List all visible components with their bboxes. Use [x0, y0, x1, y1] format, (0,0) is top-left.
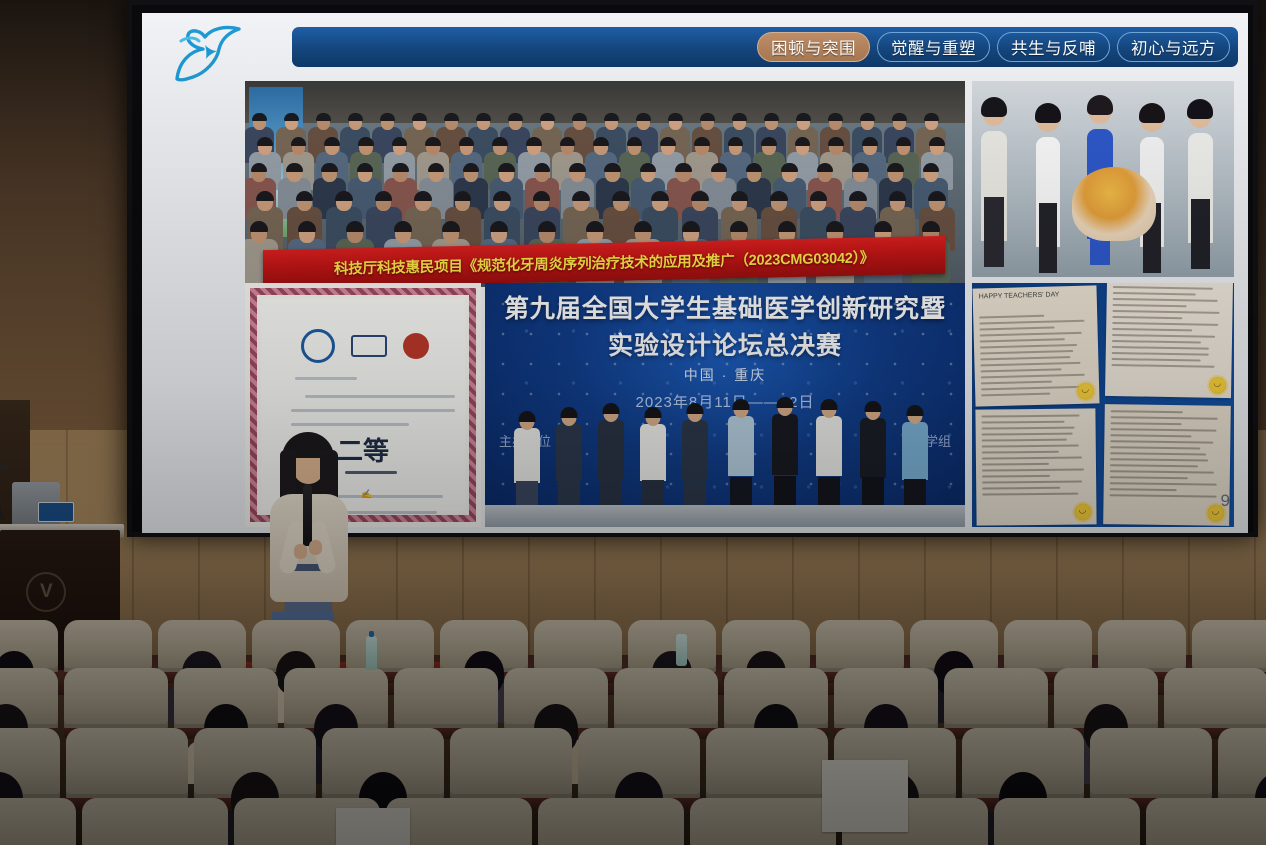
lectern-emblem-icon: [26, 572, 66, 612]
certificate-signature: ✍: [361, 489, 372, 500]
slide-number: 9: [1221, 491, 1230, 511]
book-logo-icon: [351, 335, 387, 357]
society-logo-icon: [301, 329, 335, 363]
auditorium-seat: [994, 798, 1140, 845]
emblem-logo-icon: [403, 333, 429, 359]
auditorium-seat: [1090, 728, 1212, 800]
competition-team-members: [485, 379, 965, 527]
handout-paper: [822, 760, 908, 832]
handheld-microphone: [303, 484, 312, 546]
podium-display-box: [38, 502, 74, 522]
auditorium-seat: [614, 668, 718, 730]
auditorium-seat: [690, 798, 836, 845]
tab-gongsheng-yu-fanbu[interactable]: 共生与反哺: [997, 32, 1110, 62]
conference-title-line1: 第九届全国大学生基础医学创新研究暨: [485, 289, 965, 325]
slide-nav-bar: 困顿与突围 觉醒与重塑 共生与反哺 初心与远方: [292, 27, 1238, 67]
water-bottle: [366, 636, 377, 670]
tab-juexing-yu-chongsu[interactable]: 觉醒与重塑: [877, 32, 990, 62]
auditorium-seat: [1192, 620, 1266, 674]
auditorium-seat: [534, 620, 622, 674]
auditorium-seat: [1004, 620, 1092, 674]
auditorium-seat: [706, 728, 828, 800]
auditorium-seat: [944, 668, 1048, 730]
letter-card: HAPPY TEACHERS' DAY: [972, 285, 1099, 406]
auditorium-seat: [1164, 668, 1266, 730]
students-with-flowers-photo: [972, 81, 1234, 277]
auditorium-seat: [66, 728, 188, 800]
letter-card: [1105, 283, 1233, 398]
auditorium-seat: [816, 620, 904, 674]
auditorium-seat: [1146, 798, 1266, 845]
conference-title-line2: 实验设计论坛总决赛: [485, 326, 965, 362]
letter-card: [1103, 404, 1231, 526]
auditorium-seat: [346, 620, 434, 674]
left-wall: [0, 0, 132, 450]
auditorium-seat: [450, 728, 572, 800]
auditorium-seat: [82, 798, 228, 845]
water-bottle-2: [676, 634, 687, 666]
auditorium-seat: [64, 620, 152, 674]
auditorium-seat: [394, 668, 498, 730]
seated-audience: [0, 612, 1266, 845]
handout-paper: [336, 808, 410, 845]
auditorium-seat: [0, 798, 76, 845]
auditorium-seat: [1098, 620, 1186, 674]
tab-kundun-yu-tuwei[interactable]: 困顿与突围: [757, 32, 870, 62]
project-team-group-photo: 科技厅科技惠民项目《规范化牙周炎序列治疗技术的应用及推广（2023CMG0304…: [245, 81, 965, 287]
auditorium-seat: [538, 798, 684, 845]
slide-header: 困顿与突围 觉醒与重塑 共生与反哺 初心与远方: [142, 13, 1248, 75]
letter-card: [975, 408, 1096, 525]
tab-chuxin-yu-yuanfang[interactable]: 初心与远方: [1117, 32, 1230, 62]
handwritten-thank-you-letters: HAPPY TEACHERS' DAY: [972, 283, 1234, 527]
national-competition-backdrop: 第九届全国大学生基础医学创新研究暨 实验设计论坛总决赛 中国 · 重庆 2023…: [485, 283, 965, 527]
auditorium-seat: [64, 668, 168, 730]
